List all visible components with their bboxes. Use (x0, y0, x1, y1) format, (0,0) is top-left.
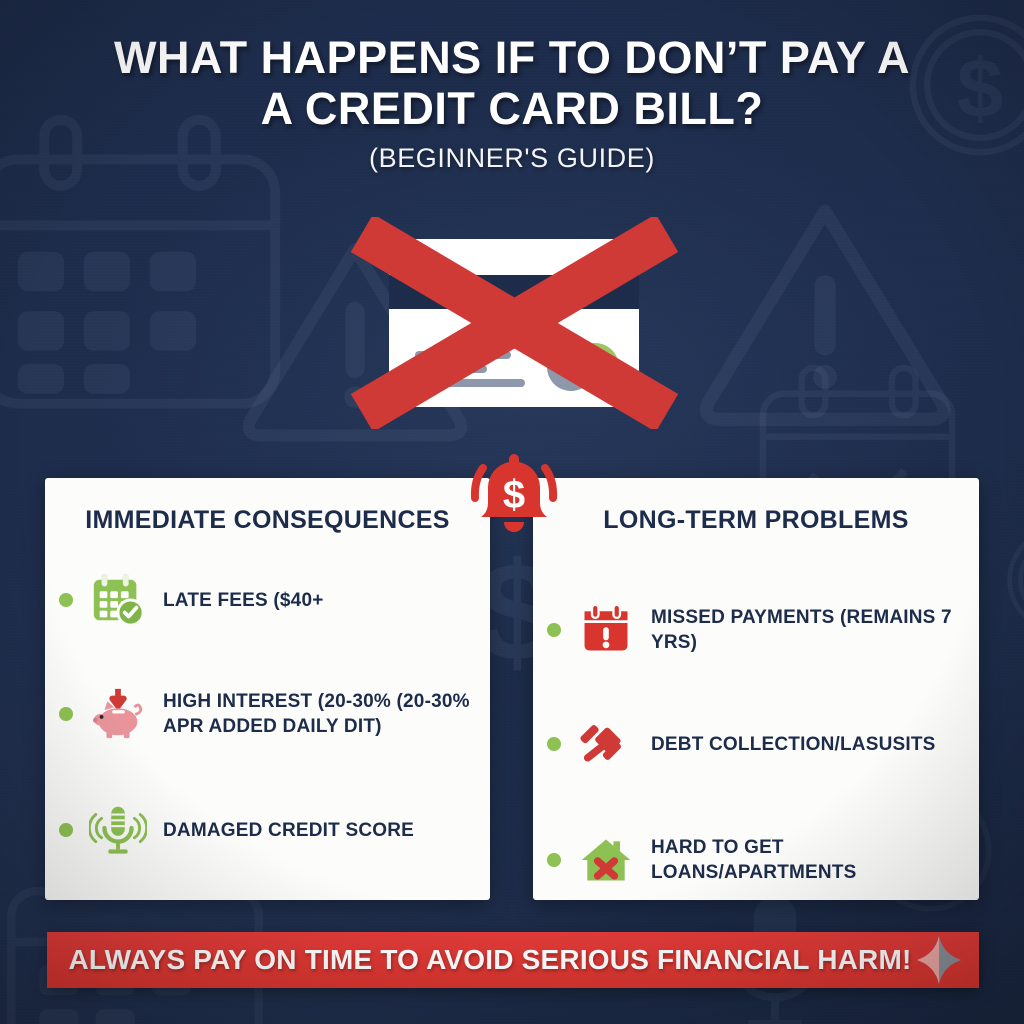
watermark-warning-triangle-icon (690, 190, 960, 430)
banner-text: ALWAYS PAY ON TIME TO AVOID SERIOUS FINA… (68, 944, 957, 976)
page-subtitle: (BEGINNER'S GUIDE) (0, 143, 1024, 174)
microphone-icon (87, 799, 149, 861)
panel-item-list: MISSED PAYMENTS (REMAINS 7 YRS) DEBT COL… (533, 587, 979, 903)
list-item-label: DAMAGED CREDIT SCORE (163, 818, 414, 843)
list-item-label: DEBT COLLECTION/LASUSITS (651, 732, 936, 757)
house-x-icon (575, 829, 637, 891)
red-x-cross-icon (332, 217, 697, 429)
list-item-label: LATE FEES ($40+ (163, 588, 324, 613)
calendar-alert-icon (575, 599, 637, 661)
header: WHAT HAPPENS IF TO DON’T PAY A A CREDIT … (0, 32, 1024, 174)
page-title-line-2: A CREDIT CARD BILL? (0, 83, 1024, 134)
list-item[interactable]: DAMAGED CREDIT SCORE (45, 787, 490, 873)
list-item[interactable]: DEBT COLLECTION/LASUSITS (533, 701, 979, 787)
svg-text:$: $ (503, 473, 525, 517)
list-item-label: HIGH INTEREST (20-30% (20-30% APR ADDED … (163, 689, 470, 739)
bullet-dot (59, 707, 73, 721)
panel-item-list: LATE FEES ($40+ (45, 557, 490, 873)
bell-dollar-icon: $ (466, 446, 562, 542)
panel-title: IMMEDIATE CONSEQUENCES (45, 478, 490, 535)
list-item[interactable]: HIGH INTEREST (20-30% (20-30% APR ADDED … (45, 671, 490, 757)
panel-immediate-consequences: IMMEDIATE CONSEQUENCES (45, 478, 490, 900)
list-item-label: HARD TO GET LOANS/APARTMENTS (651, 835, 959, 885)
panel-title: LONG-TERM PROBLEMS (533, 478, 979, 535)
page-title-line-1: WHAT HAPPENS IF TO DON’T PAY A (0, 32, 1024, 83)
panel-long-term-problems: LONG-TERM PROBLEMS MISSED PAYMENTS (REM (533, 478, 979, 900)
hero-graphic (389, 239, 639, 407)
bullet-dot (59, 593, 73, 607)
infographic-canvas: $ $ (0, 0, 1024, 1024)
list-item[interactable]: LATE FEES ($40+ (45, 557, 490, 643)
watermark-dollar-coin-icon (1000, 520, 1024, 640)
list-item[interactable]: HARD TO GET LOANS/APARTMENTS (533, 817, 979, 903)
bullet-dot (547, 853, 561, 867)
bullet-dot (59, 823, 73, 837)
gavel-icon (575, 713, 637, 775)
piggy-bank-arrow-icon (87, 683, 149, 745)
sparkle-diamond-icon (913, 934, 965, 986)
list-item[interactable]: MISSED PAYMENTS (REMAINS 7 YRS) (533, 587, 979, 673)
bullet-dot (547, 623, 561, 637)
calendar-check-icon (87, 569, 149, 631)
list-item-label: MISSED PAYMENTS (REMAINS 7 YRS) (651, 605, 959, 655)
bottom-banner: ALWAYS PAY ON TIME TO AVOID SERIOUS FINA… (47, 932, 979, 988)
bullet-dot (547, 737, 561, 751)
